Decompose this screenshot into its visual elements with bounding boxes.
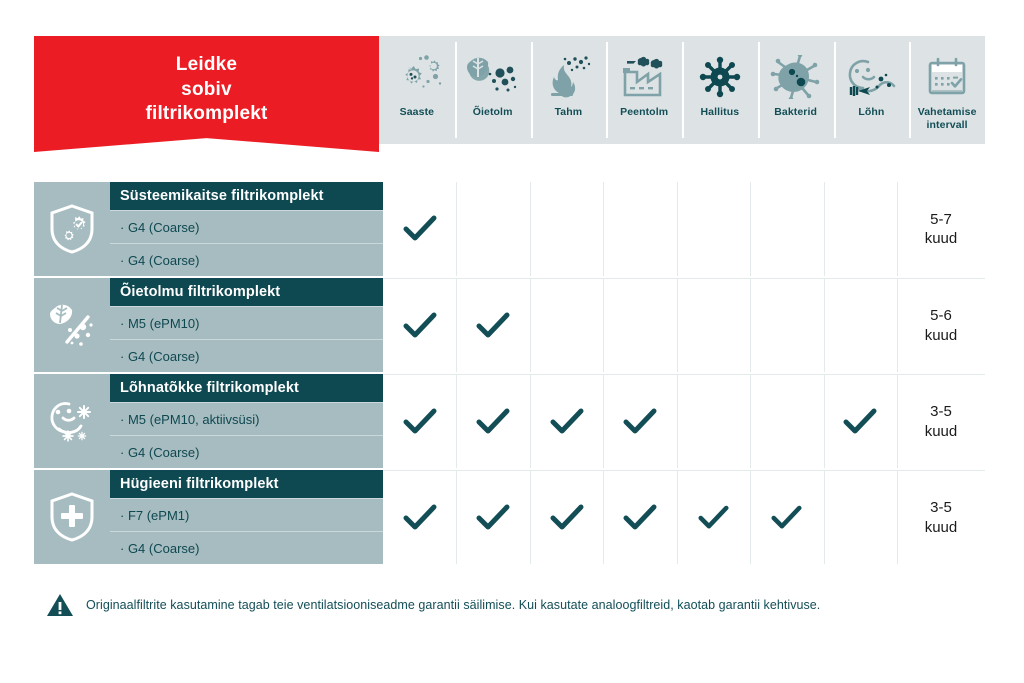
matrix-cell-hallitus[interactable]	[677, 375, 750, 468]
filter-set-labels: Lõhnatõkke filtrikomplekt · M5 (ePM10, a…	[110, 374, 383, 468]
filter-set-title: Hügieeni filtrikomplekt	[110, 470, 383, 498]
shield-gear-check-icon	[34, 182, 110, 276]
matrix-cell-peentolm[interactable]	[603, 375, 676, 468]
matrix-cell-oietolm[interactable]	[456, 182, 529, 276]
interval-unit: kuud	[925, 518, 958, 537]
pollution-particles-icon	[390, 48, 444, 106]
pollen-slash-icon	[34, 278, 110, 372]
interval-value: 5-7	[925, 210, 958, 229]
filter-set-labels: Õietolmu filtrikomplekt · M5 (ePM10) · G…	[110, 278, 383, 372]
matrix-cell-saaste[interactable]	[383, 375, 456, 468]
factory-smoke-icon	[617, 48, 671, 106]
interval-value: 3-5	[925, 402, 958, 421]
column-header-label: Saaste	[398, 106, 436, 119]
matrix-cell-lohn[interactable]	[824, 375, 897, 468]
check-icon	[623, 408, 657, 436]
column-header-band: Saaste	[379, 36, 985, 144]
matrix-cell-tahm[interactable]	[530, 279, 603, 372]
filter-comparison-table: Süsteemikaitse filtrikomplekt · G4 (Coar…	[34, 182, 985, 564]
matrix-cell-interval: 5-6 kuud	[897, 279, 985, 372]
pollen-leaf-icon	[466, 48, 520, 106]
matrix-cell-bakterid[interactable]	[750, 279, 823, 372]
matrix-cell-interval: 3-5 kuud	[897, 375, 985, 468]
matrix-cell-bakterid[interactable]	[750, 182, 823, 276]
matrix-cell-bakterid[interactable]	[750, 375, 823, 468]
mold-spore-icon	[693, 48, 747, 106]
column-header-label: Vahetamise intervall	[909, 106, 985, 132]
interval-value: 3-5	[925, 498, 958, 517]
filter-item: · G4 (Coarse)	[110, 243, 383, 276]
check-icon	[771, 505, 802, 531]
interval-unit: kuud	[925, 229, 958, 248]
column-header-label: Lõhn	[856, 106, 886, 119]
filter-set-title: Süsteemikaitse filtrikomplekt	[110, 182, 383, 210]
matrix-cell-interval: 5-7 kuud	[897, 182, 985, 276]
filter-item: · M5 (ePM10, aktiivsüsi)	[110, 402, 383, 435]
banner-line-3: filtrikomplekt	[145, 102, 267, 127]
header-area: Leidke sobiv filtrikomplekt	[0, 0, 1024, 152]
matrix-cell-tahm[interactable]	[530, 375, 603, 468]
column-header-hallitus[interactable]: Hallitus	[682, 36, 758, 144]
banner-line-1: Leidke	[145, 53, 267, 78]
check-icon	[476, 312, 510, 340]
matrix-cell-oietolm[interactable]	[456, 279, 529, 372]
matrix-cell-interval: 3-5 kuud	[897, 471, 985, 564]
filter-set-labels: Hügieeni filtrikomplekt · F7 (ePM1) · G4…	[110, 470, 383, 564]
column-header-saaste[interactable]: Saaste	[379, 36, 455, 144]
matrix-cell-bakterid[interactable]	[750, 471, 823, 564]
matrix-cell-oietolm[interactable]	[456, 375, 529, 468]
bacteria-icon	[769, 48, 823, 106]
matrix-cell-lohn[interactable]	[824, 471, 897, 564]
filter-item: · M5 (ePM10)	[110, 306, 383, 339]
odor-face-fishbone-icon	[844, 48, 898, 106]
check-icon	[476, 504, 510, 532]
column-header-bakterid[interactable]: Bakterid	[758, 36, 834, 144]
check-icon	[403, 504, 437, 532]
filter-matrix-row: 3-5 kuud	[383, 470, 985, 564]
matrix-cell-peentolm[interactable]	[603, 279, 676, 372]
check-icon	[403, 312, 437, 340]
matrix-cell-peentolm[interactable]	[603, 471, 676, 564]
matrix-cell-lohn[interactable]	[824, 279, 897, 372]
filter-matrix-row: 3-5 kuud	[383, 374, 985, 468]
title-banner: Leidke sobiv filtrikomplekt	[34, 36, 379, 152]
matrix-cell-saaste[interactable]	[383, 279, 456, 372]
warning-triangle-icon	[34, 592, 86, 618]
shield-plus-icon	[34, 470, 110, 564]
filter-set-labels: Süsteemikaitse filtrikomplekt · G4 (Coar…	[110, 182, 383, 276]
matrix-cell-hallitus[interactable]	[677, 279, 750, 372]
filter-item: · G4 (Coarse)	[110, 435, 383, 468]
column-header-label: Hallitus	[699, 106, 742, 119]
table-row: Hügieeni filtrikomplekt · F7 (ePM1) · G4…	[34, 470, 985, 564]
face-snowflakes-icon	[34, 374, 110, 468]
filter-matrix-row: 5-7 kuud	[383, 182, 985, 276]
column-header-label: Õietolm	[471, 106, 515, 119]
banner-title: Leidke sobiv filtrikomplekt	[145, 53, 267, 127]
column-header-label: Tahm	[553, 106, 585, 119]
filter-item: · G4 (Coarse)	[110, 210, 383, 243]
check-icon	[698, 505, 729, 531]
check-icon	[403, 408, 437, 436]
matrix-cell-tahm[interactable]	[530, 182, 603, 276]
matrix-cell-saaste[interactable]	[383, 182, 456, 276]
footer-text: Originaalfiltrite kasutamine tagab teie …	[86, 598, 820, 612]
table-row: Õietolmu filtrikomplekt · M5 (ePM10) · G…	[34, 278, 985, 372]
interval-value: 5-6	[925, 306, 958, 325]
banner-line-2: sobiv	[145, 78, 267, 103]
interval-unit: kuud	[925, 326, 958, 345]
matrix-cell-peentolm[interactable]	[603, 182, 676, 276]
footer-note: Originaalfiltrite kasutamine tagab teie …	[34, 585, 985, 625]
matrix-cell-tahm[interactable]	[530, 471, 603, 564]
column-header-lohn[interactable]: Lõhn	[834, 36, 910, 144]
filter-item: · G4 (Coarse)	[110, 531, 383, 564]
filter-item: · G4 (Coarse)	[110, 339, 383, 372]
check-icon	[550, 504, 584, 532]
matrix-cell-saaste[interactable]	[383, 471, 456, 564]
matrix-cell-hallitus[interactable]	[677, 471, 750, 564]
calendar-check-icon	[920, 48, 974, 106]
check-icon	[476, 408, 510, 436]
check-icon	[623, 504, 657, 532]
table-row: Süsteemikaitse filtrikomplekt · G4 (Coar…	[34, 182, 985, 276]
filter-matrix-row: 5-6 kuud	[383, 278, 985, 372]
filter-set-title: Õietolmu filtrikomplekt	[110, 278, 383, 306]
column-header-peentolm[interactable]: Peentolm	[606, 36, 682, 144]
filter-set-title: Lõhnatõkke filtrikomplekt	[110, 374, 383, 402]
column-header-tahm[interactable]: Tahm	[531, 36, 607, 144]
interval-unit: kuud	[925, 422, 958, 441]
check-icon	[403, 215, 437, 243]
column-header-interval[interactable]: Vahetamise intervall	[909, 36, 985, 144]
filter-item: · F7 (ePM1)	[110, 498, 383, 531]
column-header-label: Bakterid	[772, 106, 819, 119]
check-icon	[550, 408, 584, 436]
soot-flame-icon	[541, 48, 595, 106]
column-header-oietolm[interactable]: Õietolm	[455, 36, 531, 144]
column-header-label: Peentolm	[618, 106, 670, 119]
check-icon	[843, 408, 877, 436]
matrix-cell-lohn[interactable]	[824, 182, 897, 276]
matrix-cell-oietolm[interactable]	[456, 471, 529, 564]
table-row: Lõhnatõkke filtrikomplekt · M5 (ePM10, a…	[34, 374, 985, 468]
matrix-cell-hallitus[interactable]	[677, 182, 750, 276]
